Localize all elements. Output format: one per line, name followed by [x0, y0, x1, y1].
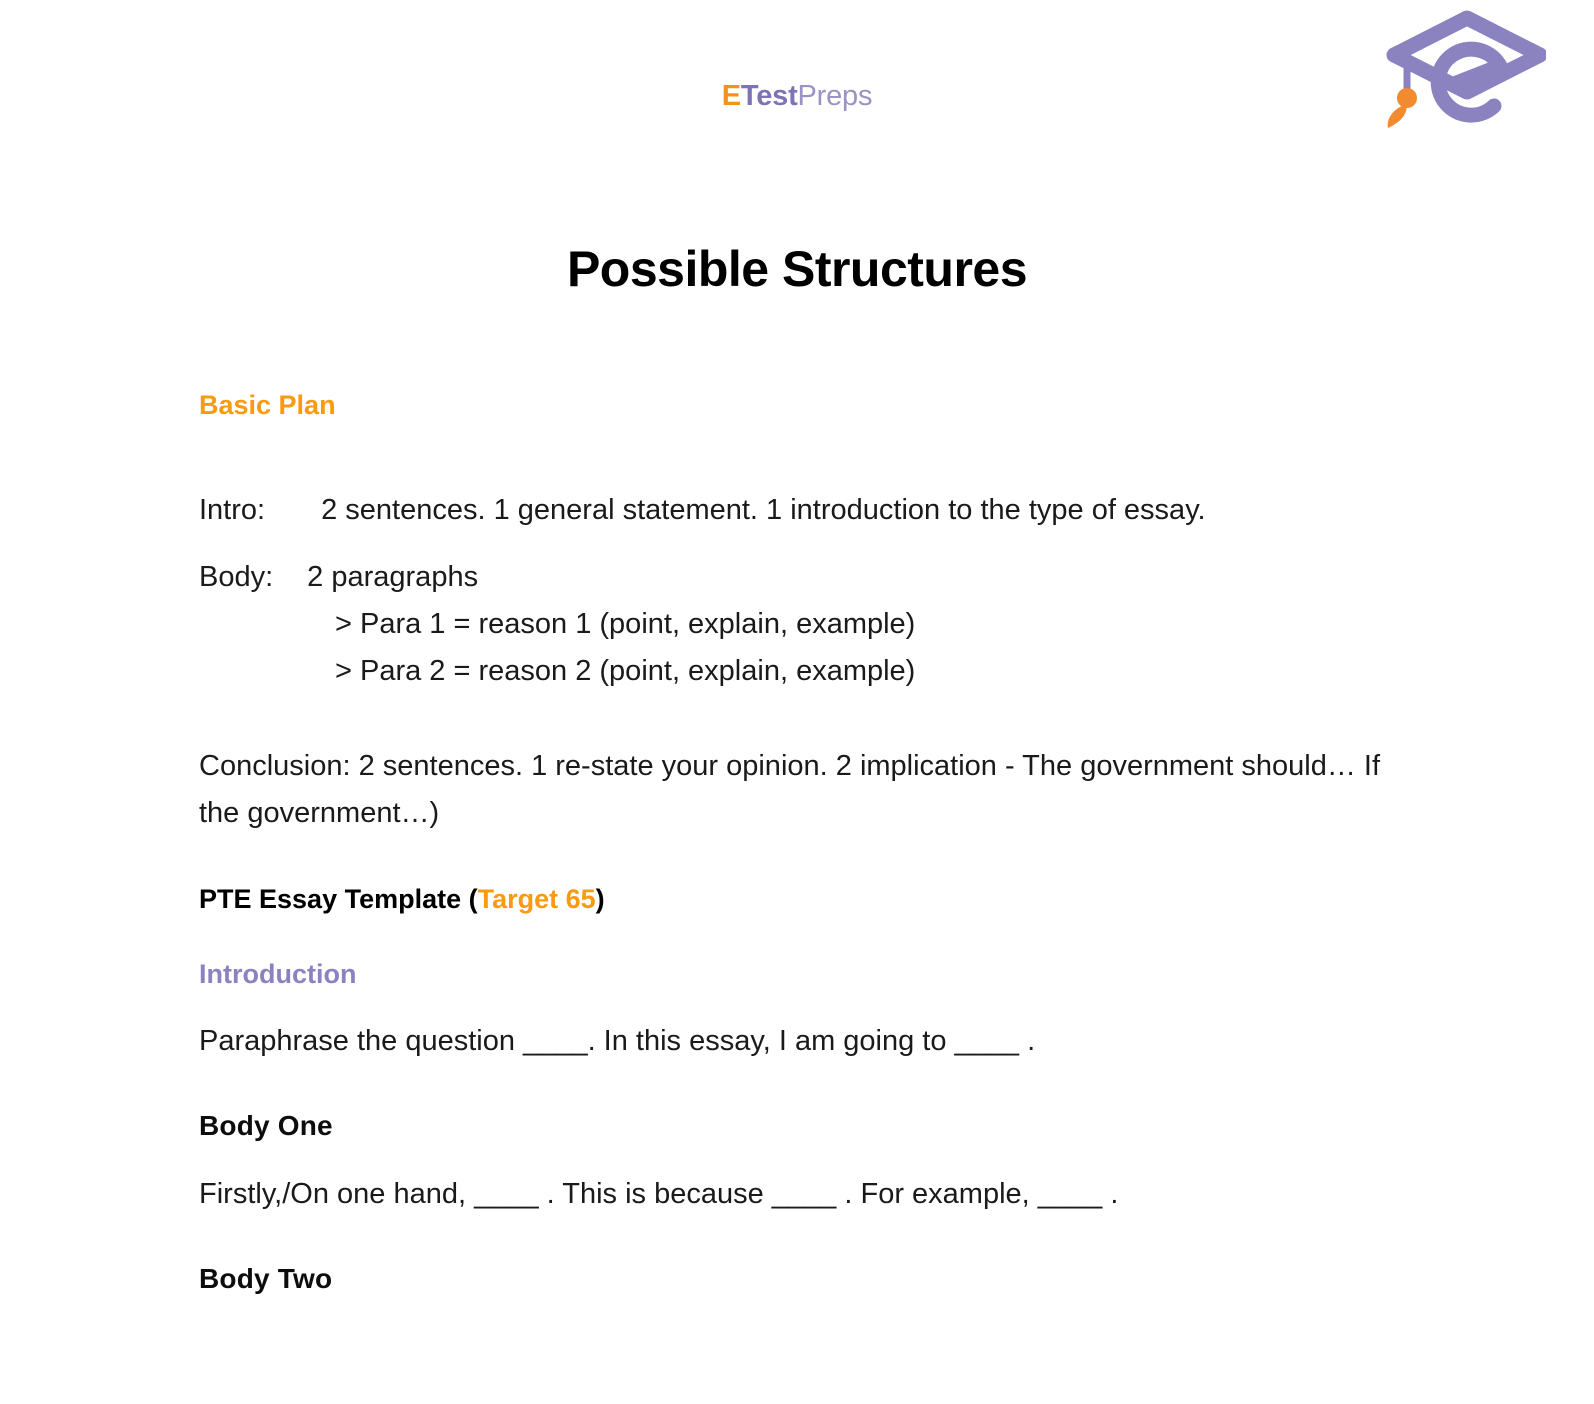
line-body-text: 2 paragraphs: [307, 561, 478, 593]
line-intro: Intro:2 sentences. 1 general statement. …: [199, 487, 1417, 534]
section-heading-pte-essay-template: PTE Essay Template (Target 65): [199, 883, 1417, 915]
subsection-heading-introduction: Introduction: [199, 958, 1417, 990]
pte-heading-prefix: PTE Essay Template (: [199, 884, 478, 914]
brand-wordmark: ETestPreps: [0, 82, 1594, 111]
line-body-sub-1: > Para 1 = reason 1 (point, explain, exa…: [199, 601, 1417, 648]
pte-heading-suffix: ): [596, 884, 605, 914]
line-intro-text: 2 sentences. 1 general statement. 1 intr…: [321, 494, 1206, 526]
subsection-heading-body-one: Body One: [199, 1109, 1417, 1143]
section-heading-basic-plan: Basic Plan: [199, 389, 1417, 421]
subsection-heading-body-two: Body Two: [199, 1262, 1417, 1296]
line-body-sub-2-text: > Para 2 = reason 2 (point, explain, exa…: [199, 648, 1417, 695]
page-title: Possible Structures: [177, 242, 1417, 297]
line-body-label: Body:: [199, 561, 273, 593]
line-introduction-template: Paraphrase the question ____. In this es…: [199, 1018, 1417, 1065]
line-body-sub-1-text: > Para 1 = reason 1 (point, explain, exa…: [199, 601, 1417, 648]
page-header: ETestPreps: [0, 0, 1594, 160]
line-body-sub-2: > Para 2 = reason 2 (point, explain, exa…: [199, 648, 1417, 695]
document-body: Possible Structures Basic Plan Intro:2 s…: [0, 242, 1594, 1295]
brand-wordmark-light: Preps: [798, 80, 873, 112]
pte-heading-target: Target 65: [478, 884, 596, 914]
brand-wordmark-accent: E: [722, 80, 741, 112]
brand-wordmark-bold: Test: [741, 80, 798, 112]
line-conclusion: Conclusion: 2 sentences. 1 re-state your…: [199, 743, 1389, 837]
line-body: Body:2 paragraphs: [199, 554, 1417, 601]
line-body-one-template: Firstly,/On one hand, ____ . This is bec…: [199, 1171, 1417, 1218]
graduation-cap-e-logo-icon: [1376, 8, 1546, 136]
line-intro-label: Intro:: [199, 494, 265, 526]
